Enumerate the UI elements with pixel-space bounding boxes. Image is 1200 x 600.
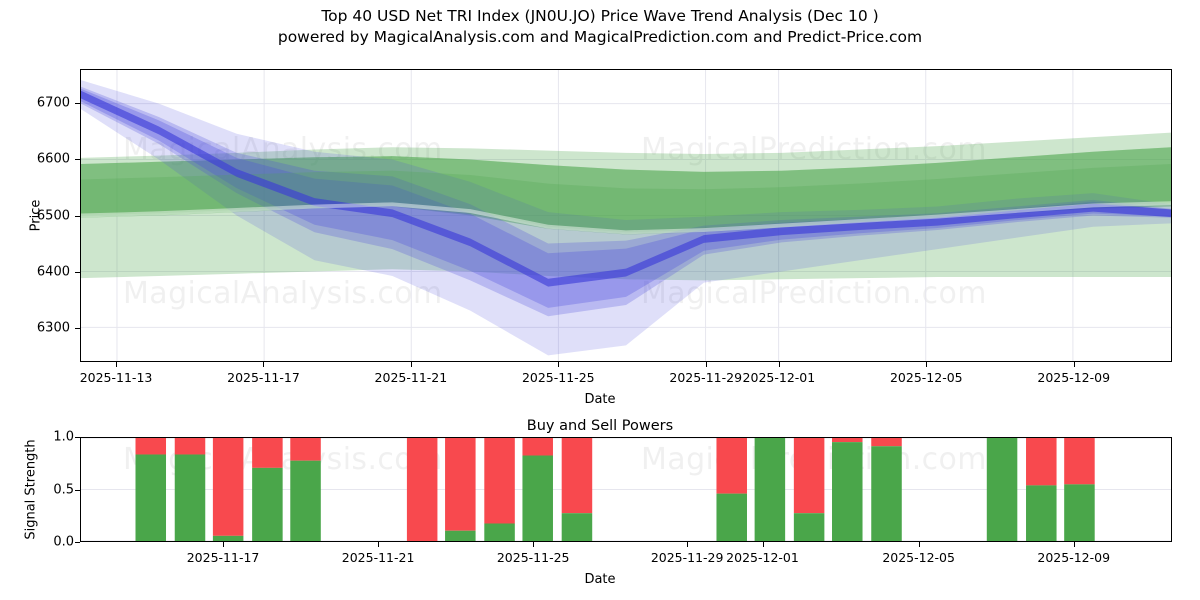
buy-power-bar[interactable]: [987, 438, 1018, 541]
buy-power-bar[interactable]: [832, 442, 863, 541]
power-y-tick-label-0: 0.0: [14, 535, 74, 550]
price-x-tick-mark-6: [926, 362, 927, 367]
price-y-tick-mark-2: [75, 216, 80, 217]
power-x-axis-title: Date: [0, 572, 1200, 587]
sell-power-bar[interactable]: [1026, 438, 1057, 485]
price-x-tick-mark-3: [558, 362, 559, 367]
buy-power-bar[interactable]: [175, 454, 206, 541]
buy-power-bar[interactable]: [562, 513, 593, 541]
sell-power-bar[interactable]: [716, 438, 747, 494]
price-y-tick-label-1: 6400: [10, 264, 70, 279]
power-y-tick-label-1: 0.5: [14, 482, 74, 497]
power-x-tick-mark-5: [919, 542, 920, 547]
price-x-tick-label-3: 2025-11-25: [522, 370, 595, 385]
power-x-tick-label-1: 2025-11-21: [342, 550, 415, 565]
power-y-tick-mark-1: [75, 490, 80, 491]
price-wave-svg: [81, 70, 1171, 361]
sell-power-bar[interactable]: [252, 438, 283, 468]
buy-sell-powers-plot: MagicalAnalysis.com MagicalPrediction.co…: [80, 437, 1172, 542]
sell-power-bar[interactable]: [832, 438, 863, 442]
price-x-tick-mark-2: [411, 362, 412, 367]
title-line-1: Top 40 USD Net TRI Index (JN0U.JO) Price…: [0, 6, 1200, 27]
buy-power-bar[interactable]: [871, 446, 902, 541]
price-y-tick-mark-1: [75, 272, 80, 273]
power-x-tick-label-4: 2025-12-01: [726, 550, 799, 565]
power-x-tick-mark-6: [1074, 542, 1075, 547]
price-x-tick-label-1: 2025-11-17: [227, 370, 300, 385]
sell-power-bar[interactable]: [1064, 438, 1095, 484]
price-x-tick-mark-4: [706, 362, 707, 367]
sell-power-bar[interactable]: [175, 438, 206, 454]
buy-power-bar[interactable]: [484, 523, 515, 541]
sell-power-bar[interactable]: [290, 438, 321, 461]
chart-page: Top 40 USD Net TRI Index (JN0U.JO) Price…: [0, 0, 1200, 600]
price-x-tick-mark-5: [779, 362, 780, 367]
price-y-tick-mark-4: [75, 103, 80, 104]
sell-power-bar[interactable]: [522, 438, 553, 456]
price-y-tick-label-2: 6500: [10, 208, 70, 223]
buy-sell-powers-svg: [81, 438, 1171, 541]
sell-power-bar[interactable]: [562, 438, 593, 513]
price-y-tick-label-3: 6600: [10, 152, 70, 167]
buy-power-bar[interactable]: [213, 536, 244, 541]
buy-power-bar[interactable]: [522, 456, 553, 541]
sell-power-bar[interactable]: [484, 438, 515, 523]
price-x-tick-mark-0: [116, 362, 117, 367]
price-x-tick-label-2: 2025-11-21: [375, 370, 448, 385]
power-x-tick-mark-2: [533, 542, 534, 547]
power-x-tick-label-5: 2025-12-05: [882, 550, 955, 565]
power-x-tick-label-0: 2025-11-17: [187, 550, 260, 565]
price-y-tick-mark-0: [75, 328, 80, 329]
buy-power-bar[interactable]: [794, 513, 825, 541]
page-title: Top 40 USD Net TRI Index (JN0U.JO) Price…: [0, 6, 1200, 48]
buy-power-bar[interactable]: [252, 468, 283, 541]
sell-power-bar[interactable]: [794, 438, 825, 513]
price-x-tick-mark-1: [263, 362, 264, 367]
buy-power-bar[interactable]: [1064, 484, 1095, 541]
buy-power-bar[interactable]: [445, 531, 476, 541]
power-x-tick-mark-1: [378, 542, 379, 547]
sell-power-bar[interactable]: [407, 438, 438, 541]
price-x-tick-label-0: 2025-11-13: [80, 370, 153, 385]
power-x-tick-label-2: 2025-11-25: [497, 550, 570, 565]
power-x-tick-label-3: 2025-11-29: [651, 550, 724, 565]
sell-power-bar[interactable]: [136, 438, 167, 454]
power-x-tick-mark-4: [763, 542, 764, 547]
price-x-tick-label-4: 2025-11-29: [669, 370, 742, 385]
price-x-tick-label-5: 2025-12-01: [743, 370, 816, 385]
price-x-tick-mark-7: [1074, 362, 1075, 367]
price-y-tick-label-4: 6700: [10, 95, 70, 110]
buy-power-bar[interactable]: [136, 454, 167, 541]
power-y-tick-label-2: 1.0: [14, 430, 74, 445]
power-y-tick-mark-0: [75, 542, 80, 543]
buy-power-bar[interactable]: [755, 438, 786, 541]
sell-power-bar[interactable]: [871, 438, 902, 446]
power-x-tick-mark-3: [687, 542, 688, 547]
sell-power-bar[interactable]: [213, 438, 244, 536]
sell-power-bar[interactable]: [445, 438, 476, 531]
price-x-tick-label-6: 2025-12-05: [890, 370, 963, 385]
buy-power-bar[interactable]: [716, 494, 747, 541]
price-x-axis-title: Date: [0, 392, 1200, 407]
price-x-tick-label-7: 2025-12-09: [1037, 370, 1110, 385]
power-x-tick-label-6: 2025-12-09: [1037, 550, 1110, 565]
power-y-tick-mark-2: [75, 437, 80, 438]
power-chart-title: Buy and Sell Powers: [0, 418, 1200, 434]
buy-power-bar[interactable]: [1026, 485, 1057, 541]
buy-power-bar[interactable]: [290, 461, 321, 541]
price-y-tick-mark-3: [75, 159, 80, 160]
price-wave-plot: MagicalAnalysis.com MagicalPrediction.co…: [80, 69, 1172, 362]
price-y-tick-label-0: 6300: [10, 321, 70, 336]
title-line-2: powered by MagicalAnalysis.com and Magic…: [0, 27, 1200, 48]
power-x-tick-mark-0: [223, 542, 224, 547]
